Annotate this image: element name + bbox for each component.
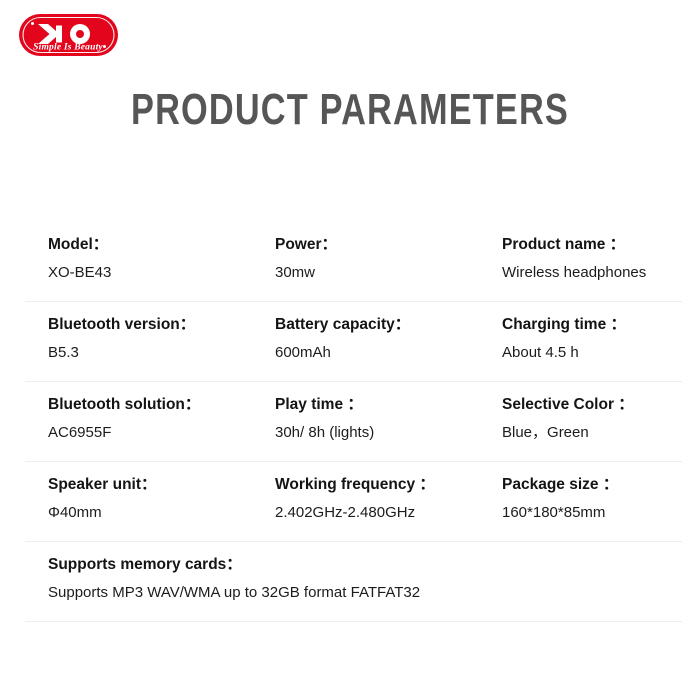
- spec-value: XO-BE43: [48, 262, 252, 284]
- product-parameters-table: Model： XO-BE43 Power： 30mw Product name …: [25, 222, 682, 622]
- spec-cell-power: Power： 30mw: [252, 222, 479, 301]
- table-row: Bluetooth solution： AC6955F Play time ： …: [25, 382, 682, 462]
- spec-cell-working-frequency: Working frequency ： 2.402GHz-2.480GHz: [252, 462, 479, 541]
- spec-value: 160*180*85mm: [502, 502, 682, 524]
- spec-cell-memory-cards: Supports memory cards： Supports MP3 WAV/…: [25, 542, 682, 621]
- spec-label: Speaker unit：: [48, 474, 252, 496]
- table-row: Bluetooth version： B5.3 Battery capacity…: [25, 302, 682, 382]
- spec-label: Supports memory cards：: [48, 554, 682, 576]
- page-title: PRODUCT PARAMETERS: [77, 82, 623, 138]
- spec-label: Package size ：: [502, 474, 682, 496]
- table-row: Model： XO-BE43 Power： 30mw Product name …: [25, 222, 682, 302]
- spec-cell-speaker-unit: Speaker unit： Φ40mm: [25, 462, 252, 541]
- spec-label: Battery capacity：: [275, 314, 479, 336]
- spec-value: Φ40mm: [48, 502, 252, 524]
- spec-label: Model：: [48, 234, 252, 256]
- spec-cell-charging-time: Charging time ： About 4.5 h: [479, 302, 682, 381]
- spec-cell-bluetooth-solution: Bluetooth solution： AC6955F: [25, 382, 252, 461]
- logo-tagline: Simple Is Beauty: [33, 43, 103, 53]
- spec-cell-play-time: Play time ： 30h/ 8h (lights): [252, 382, 479, 461]
- spec-value: About 4.5 h: [502, 342, 682, 364]
- spec-label: Bluetooth version：: [48, 314, 252, 336]
- spec-cell-selective-color: Selective Color ： Blue，Green: [479, 382, 682, 461]
- spec-label: Working frequency ：: [275, 474, 479, 496]
- spec-cell-package-size: Package size ： 160*180*85mm: [479, 462, 682, 541]
- spec-cell-model: Model： XO-BE43: [25, 222, 252, 301]
- spec-value: B5.3: [48, 342, 252, 364]
- spec-label: Charging time ：: [502, 314, 682, 336]
- table-row: Supports memory cards： Supports MP3 WAV/…: [25, 542, 682, 622]
- brand-logo: Simple Is Beauty: [18, 13, 119, 57]
- spec-cell-bluetooth-version: Bluetooth version： B5.3: [25, 302, 252, 381]
- spec-cell-product-name: Product name ： Wireless headphones: [479, 222, 682, 301]
- spec-value: Supports MP3 WAV/WMA up to 32GB format F…: [48, 582, 682, 604]
- spec-label: Play time ：: [275, 394, 479, 416]
- xo-logo-icon: Simple Is Beauty: [18, 13, 119, 57]
- spec-value: 2.402GHz-2.480GHz: [275, 502, 479, 524]
- spec-value: Wireless headphones: [502, 262, 682, 284]
- spec-label: Power：: [275, 234, 479, 256]
- spec-label: Product name ：: [502, 234, 682, 256]
- spec-value: Blue，Green: [502, 422, 682, 444]
- spec-value: 600mAh: [275, 342, 479, 364]
- spec-cell-battery-capacity: Battery capacity： 600mAh: [252, 302, 479, 381]
- spec-label: Selective Color ：: [502, 394, 682, 416]
- spec-value: AC6955F: [48, 422, 252, 444]
- spec-value: 30mw: [275, 262, 479, 284]
- spec-value: 30h/ 8h (lights): [275, 422, 479, 444]
- table-row: Speaker unit： Φ40mm Working frequency ： …: [25, 462, 682, 542]
- spec-label: Bluetooth solution：: [48, 394, 252, 416]
